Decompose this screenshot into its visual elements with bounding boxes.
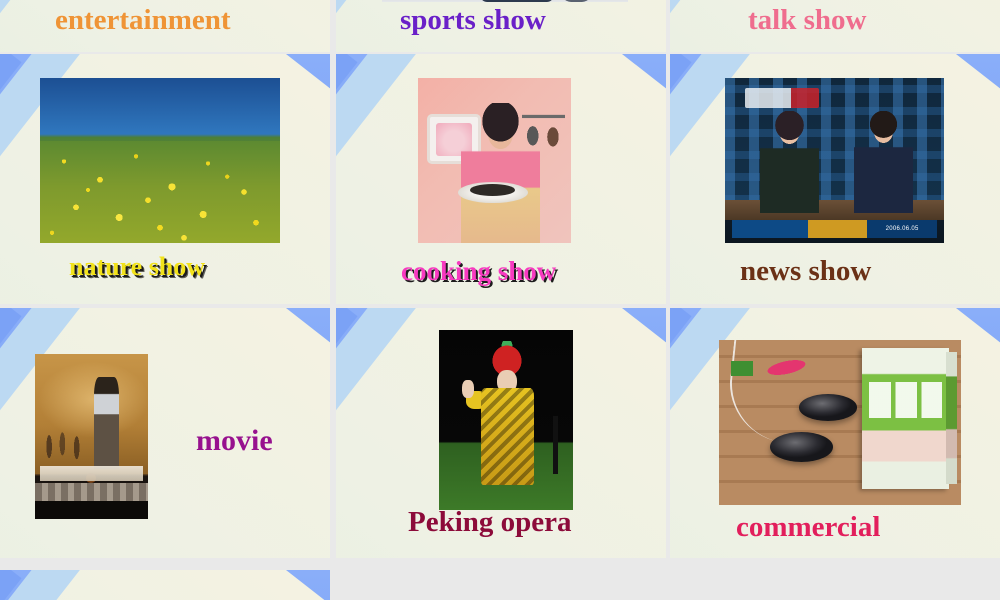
slide-caption-entertainment: entertainment	[55, 6, 231, 35]
slide-thumbnail-news-show[interactable]: 2006.06.05 news show	[670, 54, 1000, 304]
slide-thumbnail-peking-opera[interactable]: Peking opera	[336, 308, 666, 558]
slide-thumbnail-talk-show[interactable]: talk show	[670, 0, 1000, 52]
slide-caption-peking-opera: Peking opera	[408, 508, 572, 537]
slide-caption-sports-show: sports show	[400, 6, 546, 35]
slide-thumbnail-sports-show[interactable]: sports show	[336, 0, 666, 52]
cctv-channel-bug	[745, 88, 819, 108]
cooking-host-photo	[418, 78, 571, 243]
slide-background-pattern	[0, 570, 330, 600]
rape-flower-field-photo	[40, 78, 280, 243]
cctv-news-studio-photo: 2006.06.05	[725, 78, 944, 243]
slide-caption-news-show: news show	[740, 257, 871, 286]
milk-commercial-photo	[719, 340, 961, 505]
slide-thumbnail-partial-bottom[interactable]	[0, 570, 330, 600]
news-lower-third: 2006.06.05	[732, 220, 938, 238]
slide-caption-talk-show: talk show	[748, 6, 866, 35]
slide-caption-movie: movie	[196, 426, 273, 456]
slide-thumbnail-cooking-show[interactable]: cooking show	[336, 54, 666, 304]
coach-carter-poster-photo	[35, 354, 148, 519]
slide-thumbnail-grid[interactable]: entertainment sports show talk show	[0, 0, 1000, 600]
slide-thumbnail-entertainment[interactable]: entertainment	[0, 0, 330, 52]
slide-caption-cooking-show: cooking show	[401, 258, 556, 285]
slide-caption-nature-show: nature show	[69, 254, 205, 280]
news-date-label: 2006.06.05	[867, 220, 938, 238]
peking-opera-performer-photo	[439, 330, 573, 510]
slide-thumbnail-nature-show[interactable]: nature show	[0, 54, 330, 304]
slide-thumbnail-movie[interactable]: movie	[0, 308, 330, 558]
sports-photo	[382, 0, 628, 2]
slide-caption-commercial: commercial	[736, 513, 880, 542]
slide-thumbnail-commercial[interactable]: commercial	[670, 308, 1000, 558]
